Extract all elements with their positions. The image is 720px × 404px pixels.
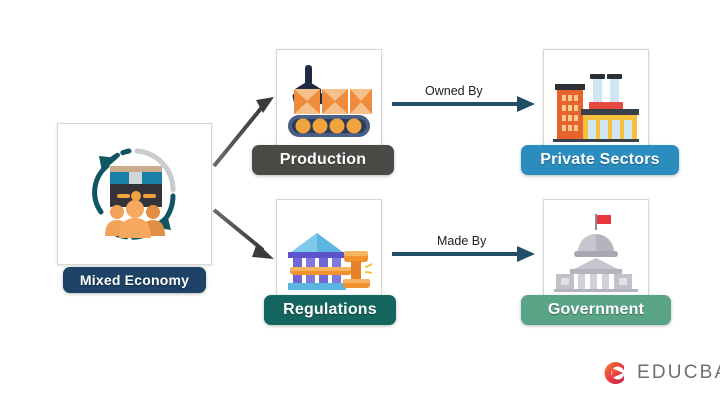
node-label-mixed-economy[interactable]: Mixed Economy	[63, 267, 206, 293]
mixed-economy-card[interactable]	[57, 123, 212, 265]
edge-label-made-by: Made By	[437, 234, 486, 248]
educba-logo-icon	[600, 358, 630, 388]
mixed-economy-cycle-icon	[77, 138, 192, 250]
private-sectors-card[interactable]	[543, 49, 649, 154]
courthouse-gavel-icon	[286, 211, 372, 293]
node-label-production[interactable]: Production	[252, 145, 394, 175]
node-label-government[interactable]: Government	[521, 295, 671, 325]
conveyor-belt-icon	[286, 63, 372, 141]
edge-label-owned-by: Owned By	[425, 84, 483, 98]
diagram-canvas: Owned By Made By	[0, 0, 720, 404]
educba-logo: EDUCBA	[600, 358, 720, 388]
government-card[interactable]	[543, 199, 649, 305]
node-label-regulations[interactable]: Regulations	[264, 295, 396, 325]
educba-wordmark: EDUCBA	[637, 362, 720, 384]
regulations-card[interactable]	[276, 199, 382, 305]
node-label-private-sectors[interactable]: Private Sectors	[521, 145, 679, 175]
factory-icon	[553, 62, 639, 142]
capitol-building-icon	[554, 212, 638, 292]
production-card[interactable]	[276, 49, 382, 154]
